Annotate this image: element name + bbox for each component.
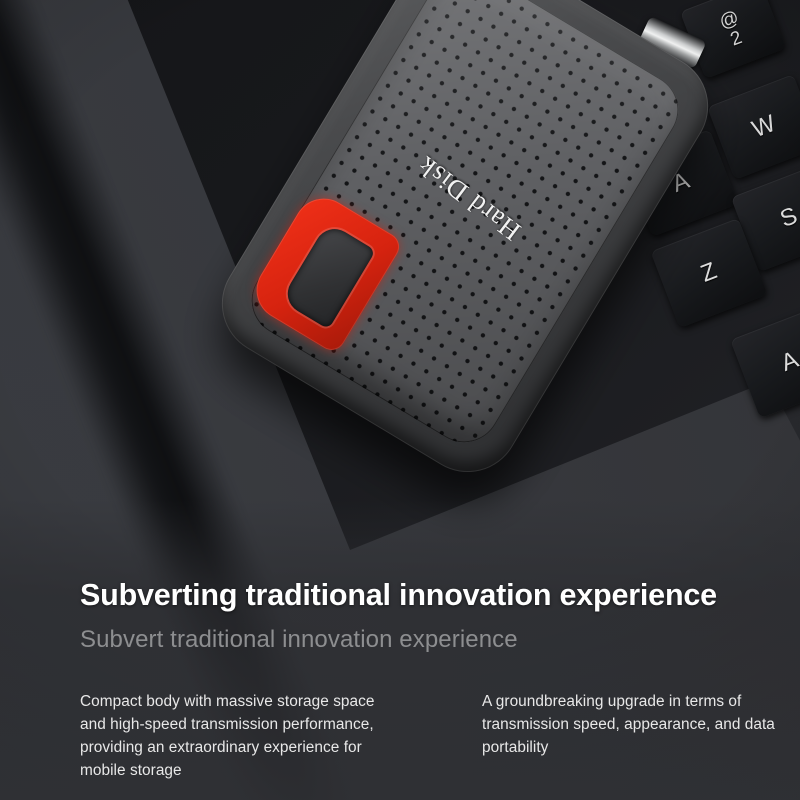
- subheadline: Subvert traditional innovation experienc…: [80, 626, 756, 654]
- headline: Subverting traditional innovation experi…: [80, 578, 756, 612]
- feature-text-left: Compact body with massive storage space …: [80, 690, 398, 782]
- key-w-label: W: [749, 111, 779, 142]
- marketing-copy: Subverting traditional innovation experi…: [80, 578, 756, 782]
- key-2-label: @ 2: [717, 8, 749, 52]
- key-a-lower-label: A: [778, 347, 800, 376]
- product-banner: @ 2 W A S Z A Hard Disk: [0, 0, 800, 800]
- feature-column-right: A groundbreaking upgrade in terms of tra…: [482, 690, 782, 782]
- feature-text-right: A groundbreaking upgrade in terms of tra…: [482, 690, 782, 759]
- key-s-label: S: [777, 203, 800, 232]
- ssd-brand-label: Hard Disk: [412, 149, 527, 246]
- feature-column-left: Compact body with massive storage space …: [80, 690, 398, 782]
- key-z-label: Z: [698, 259, 721, 288]
- feature-columns: Compact body with massive storage space …: [80, 690, 756, 782]
